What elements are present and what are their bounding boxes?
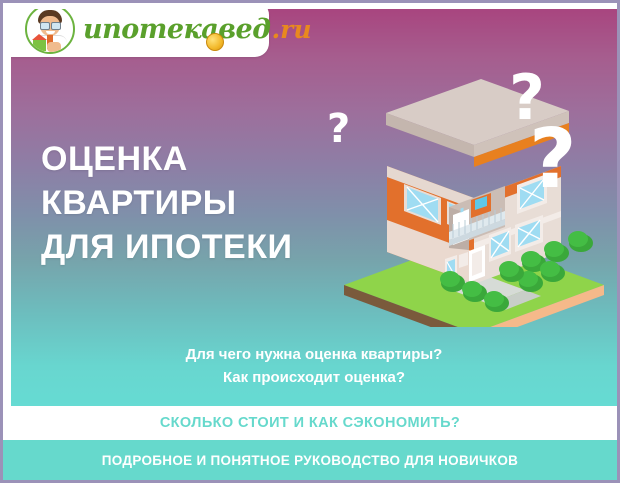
coin-icon <box>206 33 224 51</box>
avatar-icon <box>25 9 75 54</box>
subtitle-question-1: Для чего нужна оценка квартиры? <box>11 343 617 366</box>
footer-label: ПОДРОБНОЕ И ПОНЯТНОЕ РУКОВОДСТВО ДЛЯ НОВ… <box>102 453 518 468</box>
logo-tld: .ru <box>271 15 311 44</box>
page-title: ОЦЕНКА КВАРТИРЫ ДЛЯ ИПОТЕКИ <box>41 137 292 269</box>
highlight-line: СКОЛЬКО СТОИТ И КАК СЭКОНОМИТЬ? <box>3 406 617 440</box>
poster-root: ? ? ? ОЦЕНКА КВАРТИРЫ ДЛЯ ИПОТЕКИ Для че… <box>0 0 620 483</box>
logo-name: ипотекавед <box>83 14 270 45</box>
subtitle-questions: Для чего нужна оценка квартиры? Как прои… <box>11 343 617 389</box>
question-mark-icon-large: ? <box>529 119 577 201</box>
question-mark-icon-small: ? <box>327 109 350 149</box>
subtitle-question-2: Как происходит оценка? <box>11 366 617 389</box>
highlight-line-label: СКОЛЬКО СТОИТ И КАК СЭКОНОМИТЬ? <box>160 415 460 431</box>
footer-bar: ПОДРОБНОЕ И ПОНЯТНОЕ РУКОВОДСТВО ДЛЯ НОВ… <box>3 440 617 480</box>
hero-gradient-panel: ? ? ? ОЦЕНКА КВАРТИРЫ ДЛЯ ИПОТЕКИ Для че… <box>11 9 617 406</box>
site-logo[interactable]: ипотекавед .ru <box>11 9 269 57</box>
